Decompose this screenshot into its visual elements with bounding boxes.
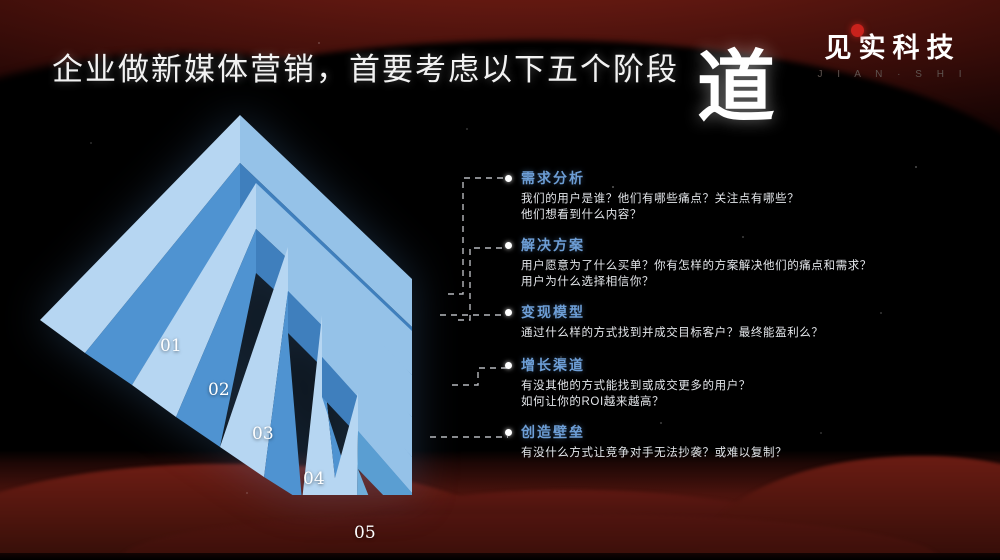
list-item-heading: 变现模型 [521, 302, 975, 322]
presentation-slide: 企业做新媒体营销，首要考虑以下五个阶段 道 见实科技 J I A N · S H… [0, 0, 1000, 560]
list-item-heading: 需求分析 [521, 168, 975, 188]
connector-line-1 [448, 178, 508, 294]
list-item-line: 用户为什么选择相信你？ [521, 274, 975, 290]
list-item-line: 有没其他的方式能找到或成交更多的用户？ [521, 378, 975, 394]
bullet-dot-icon [505, 429, 512, 436]
bullet-dot-icon [505, 175, 512, 182]
list-item[interactable]: 创造壁垒 有没什么方式让竞争对手无法抄袭？或难以复制？ [505, 422, 975, 461]
bullet-dot-icon [505, 362, 512, 369]
list-item-line: 有没什么方式让竞争对手无法抄袭？或难以复制？ [521, 445, 975, 461]
bullet-dot-icon [505, 242, 512, 249]
list-item-heading: 增长渠道 [521, 355, 975, 375]
connector-line-2 [458, 248, 508, 320]
list-item-line: 用户愿意为了什么买单？你有怎样的方案解决他们的痛点和需求？ [521, 258, 975, 274]
list-item-heading: 创造壁垒 [521, 422, 975, 442]
list-item[interactable]: 变现模型 通过什么样的方式找到并成交目标客户？最终能盈利么？ [505, 302, 975, 341]
list-item[interactable]: 增长渠道 有没其他的方式能找到或成交更多的用户？ 如何让你的ROI越来越高？ [505, 355, 975, 410]
list-item[interactable]: 解决方案 用户愿意为了什么买单？你有怎样的方案解决他们的痛点和需求？ 用户为什么… [505, 235, 975, 290]
list-item-line: 如何让你的ROI越来越高？ [521, 394, 975, 410]
list-item-line: 他们想看到什么内容？ [521, 207, 975, 223]
list-item-heading: 解决方案 [521, 235, 975, 255]
list-item-line: 通过什么样的方式找到并成交目标客户？最终能盈利么？ [521, 325, 975, 341]
connector-line-4 [452, 368, 508, 385]
bullet-dot-icon [505, 309, 512, 316]
list-item-line: 我们的用户是谁？他们有哪些痛点？关注点有哪些？ [521, 191, 975, 207]
list-item[interactable]: 需求分析 我们的用户是谁？他们有哪些痛点？关注点有哪些？ 他们想看到什么内容？ [505, 168, 975, 223]
